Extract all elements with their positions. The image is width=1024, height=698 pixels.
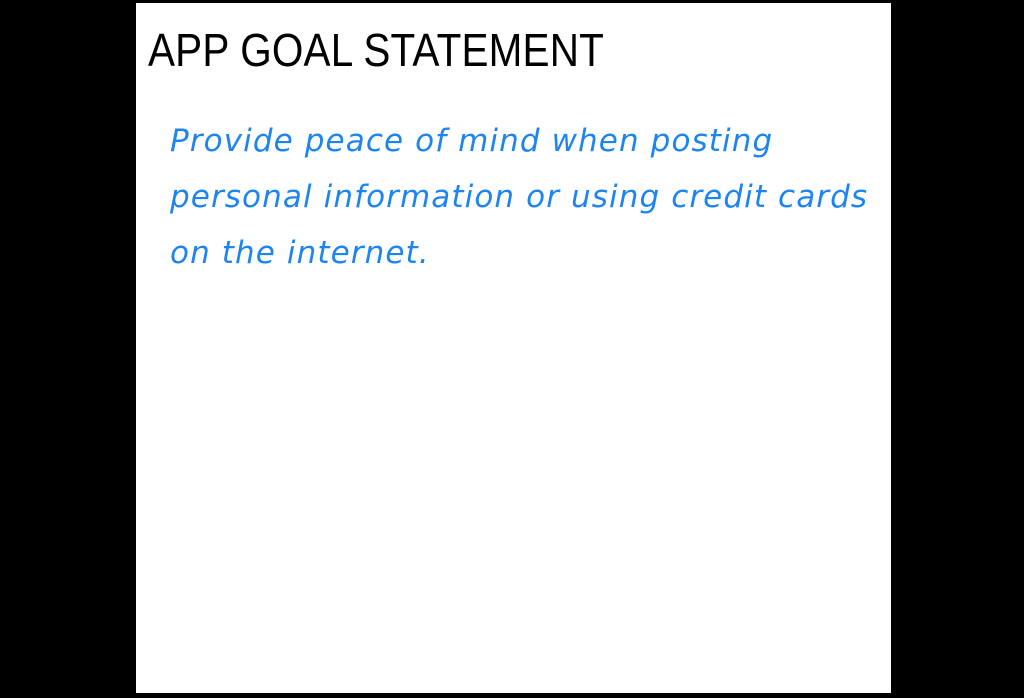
goal-statement-line: Provide peace of mind when posting (170, 113, 880, 169)
goal-statement-line: personal information or using credit car… (170, 169, 880, 225)
goal-statement-line: on the internet. (170, 225, 880, 281)
page-title: APP GOAL STATEMENT (148, 24, 604, 76)
goal-statement-text: Provide peace of mind when posting perso… (170, 113, 880, 281)
screen-root: APP GOAL STATEMENT Provide peace of mind… (0, 0, 1024, 698)
slide-panel: APP GOAL STATEMENT Provide peace of mind… (136, 3, 891, 693)
